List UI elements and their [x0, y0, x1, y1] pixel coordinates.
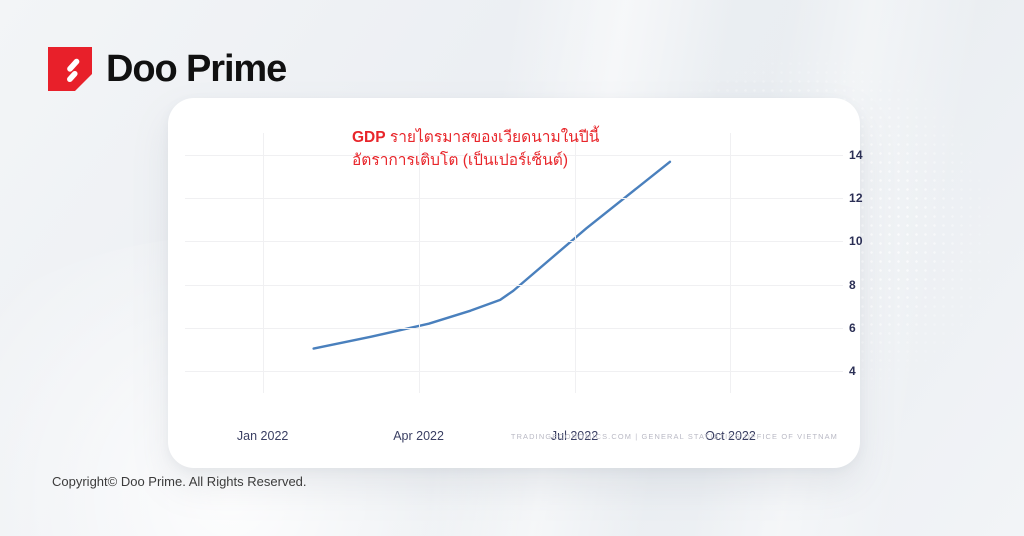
gridline-horizontal — [185, 241, 843, 242]
slide-canvas: Doo Prime 141210864Jan 2022Apr 2022Jul 2… — [0, 0, 1024, 536]
annotation-line-1: GDP รายไตรมาสของเวียดนามในปีนี้ — [352, 127, 652, 150]
gridline-horizontal — [185, 328, 843, 329]
brand-name: Doo Prime — [106, 50, 286, 88]
gridline-horizontal — [185, 371, 843, 372]
annotation-gdp-label: GDP — [352, 129, 386, 146]
gridline-vertical — [263, 133, 264, 393]
gridline-horizontal — [185, 198, 843, 199]
y-axis-tick-label: 10 — [849, 234, 863, 248]
y-axis-tick-label: 14 — [849, 148, 863, 162]
copyright-text: Copyright© Doo Prime. All Rights Reserve… — [52, 474, 307, 489]
y-axis-tick-label: 6 — [849, 321, 856, 335]
gridline-horizontal — [185, 285, 843, 286]
chart-source-attribution: TRADINGECONOMICS.COM | GENERAL STATISTIC… — [168, 432, 838, 441]
annotation-line-1-text: รายไตรมาสของเวียดนามในปีนี้ — [386, 129, 600, 146]
y-axis-tick-label: 4 — [849, 364, 856, 378]
brand-header: Doo Prime — [48, 47, 286, 91]
annotation-line-2: อัตราการเติบโต (เป็นเปอร์เซ็นต์) — [352, 150, 652, 173]
gridline-vertical — [730, 133, 731, 393]
y-axis-tick-label: 12 — [849, 191, 863, 205]
chart-annotation: GDP รายไตรมาสของเวียดนามในปีนี้ อัตราการ… — [352, 127, 652, 173]
doo-prime-logo-icon — [48, 47, 92, 91]
y-axis-tick-label: 8 — [849, 278, 856, 292]
